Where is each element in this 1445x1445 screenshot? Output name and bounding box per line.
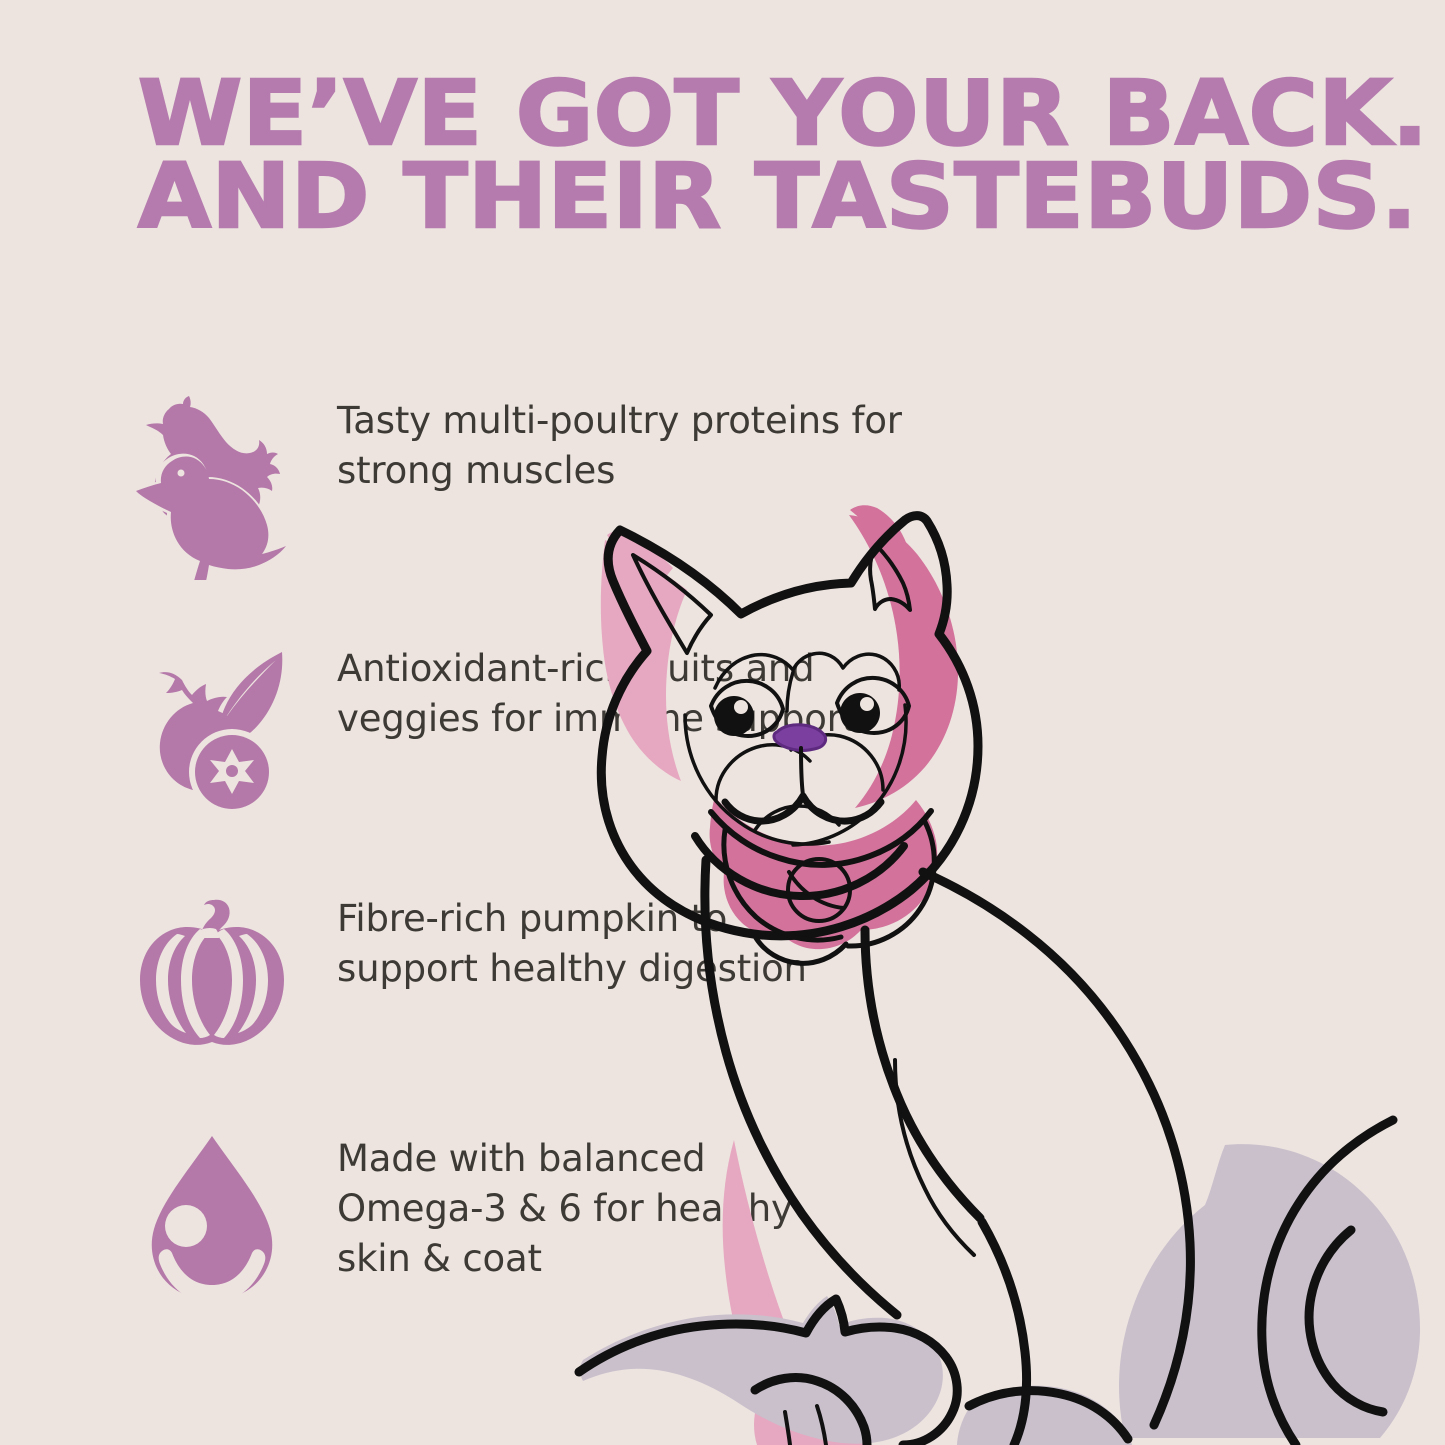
infographic-canvas: WE’VE GOT YOUR BACK. AND THEIR TASTEBUDS… (0, 0, 1445, 1445)
feature-text-poultry: Tasty multi-poultry proteins for strong … (302, 390, 902, 496)
droplet-icon (122, 1128, 302, 1318)
feature-list: Tasty multi-poultry proteins for strong … (0, 0, 1445, 1445)
feature-item-omega: Made with balanced Omega-3 & 6 for healt… (122, 1128, 793, 1318)
berries-icon (122, 638, 302, 828)
pumpkin-icon (122, 888, 302, 1078)
feature-item-antioxidants: Antioxidant-rich fruits and veggies for … (122, 638, 856, 828)
feature-text-antioxidants: Antioxidant-rich fruits and veggies for … (302, 638, 856, 744)
feature-text-omega: Made with balanced Omega-3 & 6 for healt… (302, 1128, 793, 1284)
feature-item-fibre: Fibre-rich pumpkin to support healthy di… (122, 888, 807, 1078)
feature-item-poultry: Tasty multi-poultry proteins for strong … (122, 390, 902, 580)
feature-text-fibre: Fibre-rich pumpkin to support healthy di… (302, 888, 807, 994)
chicken-duck-icon (122, 390, 302, 580)
